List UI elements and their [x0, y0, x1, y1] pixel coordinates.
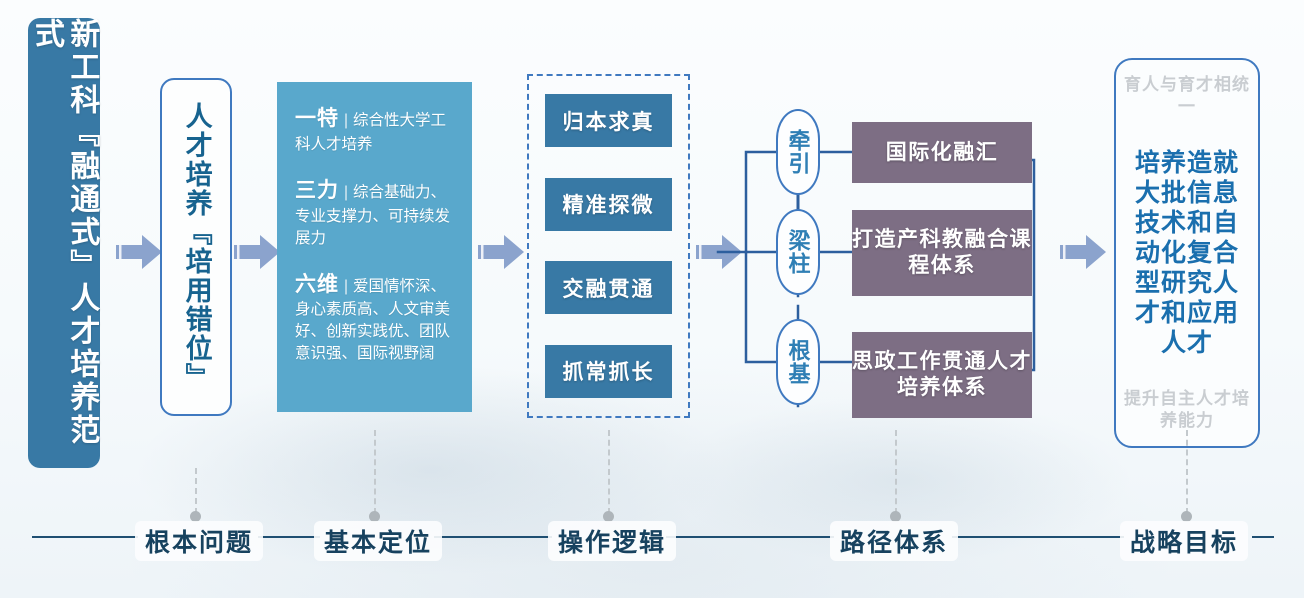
- timeline-stem: [895, 430, 897, 514]
- positioning-row: 六维|爱国情怀深、身心素质高、人文审美好、创新实践优、团队意识强、国际视野阔: [295, 270, 458, 366]
- pathway-tag-capsule: 牵引: [776, 109, 820, 195]
- strategic-goal-panel: 育人与育才相统一 培养造就大批信息技术和自动化复合型研究人才和应用人才 提升自主…: [1114, 58, 1260, 448]
- timeline-stem: [374, 430, 376, 514]
- operating-logic-chip: 交融贯通: [545, 261, 672, 314]
- timeline-rule: [258, 536, 320, 538]
- pathway-result-box: 国际化融汇: [852, 122, 1032, 183]
- timeline-label: 路径体系: [830, 521, 958, 561]
- timeline-stem: [195, 468, 197, 514]
- pathway-tag-capsule: 梁柱: [776, 209, 820, 295]
- arrow-panel2-to-panel3: [234, 228, 282, 276]
- timeline-stem: [608, 430, 610, 514]
- pathway-result-box: 打造产科教融合课程体系: [852, 210, 1032, 296]
- timeline-stem: [1186, 430, 1188, 514]
- timeline-rule: [952, 536, 1124, 538]
- arrow-panel1-to-panel2: [116, 228, 164, 276]
- positioning-row: 三力|综合基础力、专业支撑力、可持续发展力: [295, 176, 458, 250]
- stage-timeline: 根本问题 基本定位 操作逻辑 路径体系 战略目标: [0, 480, 1304, 598]
- timeline-rule: [666, 536, 834, 538]
- timeline-label: 根本问题: [135, 521, 263, 561]
- positioning-key: 三力: [295, 179, 339, 202]
- pathway-system-panel: 牵引 梁柱 根基 国际化融汇 打造产科教融合课程体系 思政工作贯通人才培养体系: [716, 70, 1036, 430]
- positioning-separator: |: [344, 184, 348, 201]
- timeline-label: 基本定位: [314, 521, 442, 561]
- timeline-rule: [434, 536, 552, 538]
- positioning-key: 一特: [295, 107, 339, 130]
- core-problem-text: 人才培养『培用错位』: [180, 102, 211, 392]
- timeline-rule: [1252, 536, 1274, 538]
- positioning-separator: |: [344, 278, 348, 295]
- paradigm-title-panel: 新工科『融通式』人才培养范式: [28, 18, 100, 468]
- operating-logic-chip: 抓常抓长: [545, 345, 672, 398]
- timeline-rule: [32, 536, 138, 538]
- strategic-goal-main-text: 培养造就大批信息技术和自动化复合型研究人才和应用人才: [1124, 148, 1250, 358]
- operating-logic-chip: 归本求真: [545, 94, 672, 147]
- operating-logic-panel: 归本求真 精准探微 交融贯通 抓常抓长: [527, 74, 690, 418]
- positioning-row: 一特|综合性大学工科人才培养: [295, 104, 458, 156]
- pathway-tag-text: 梁柱: [786, 229, 809, 275]
- positioning-separator: |: [344, 112, 348, 129]
- pathway-tag-capsule: 根基: [776, 319, 820, 405]
- timeline-label: 操作逻辑: [548, 521, 676, 561]
- paradigm-title-text: 新工科『融通式』人才培养范式: [29, 18, 100, 468]
- pathway-tag-text: 根基: [786, 339, 809, 385]
- positioning-panel: 一特|综合性大学工科人才培养 三力|综合基础力、专业支撑力、可持续发展力 六维|…: [277, 82, 472, 412]
- positioning-key: 六维: [295, 273, 339, 296]
- operating-logic-chip: 精准探微: [545, 178, 672, 231]
- strategic-goal-top-note: 育人与育才相统一: [1124, 74, 1250, 118]
- pathway-result-box: 思政工作贯通人才培养体系: [852, 332, 1032, 418]
- core-problem-panel: 人才培养『培用错位』: [160, 78, 232, 416]
- timeline-label: 战略目标: [1120, 521, 1248, 561]
- pathway-tag-text: 牵引: [786, 129, 809, 175]
- arrow-panel3-to-panel4: [478, 228, 526, 276]
- strategic-goal-bottom-note: 提升自主人才培养能力: [1124, 388, 1250, 432]
- arrow-panel5-to-panel6: [1060, 228, 1108, 276]
